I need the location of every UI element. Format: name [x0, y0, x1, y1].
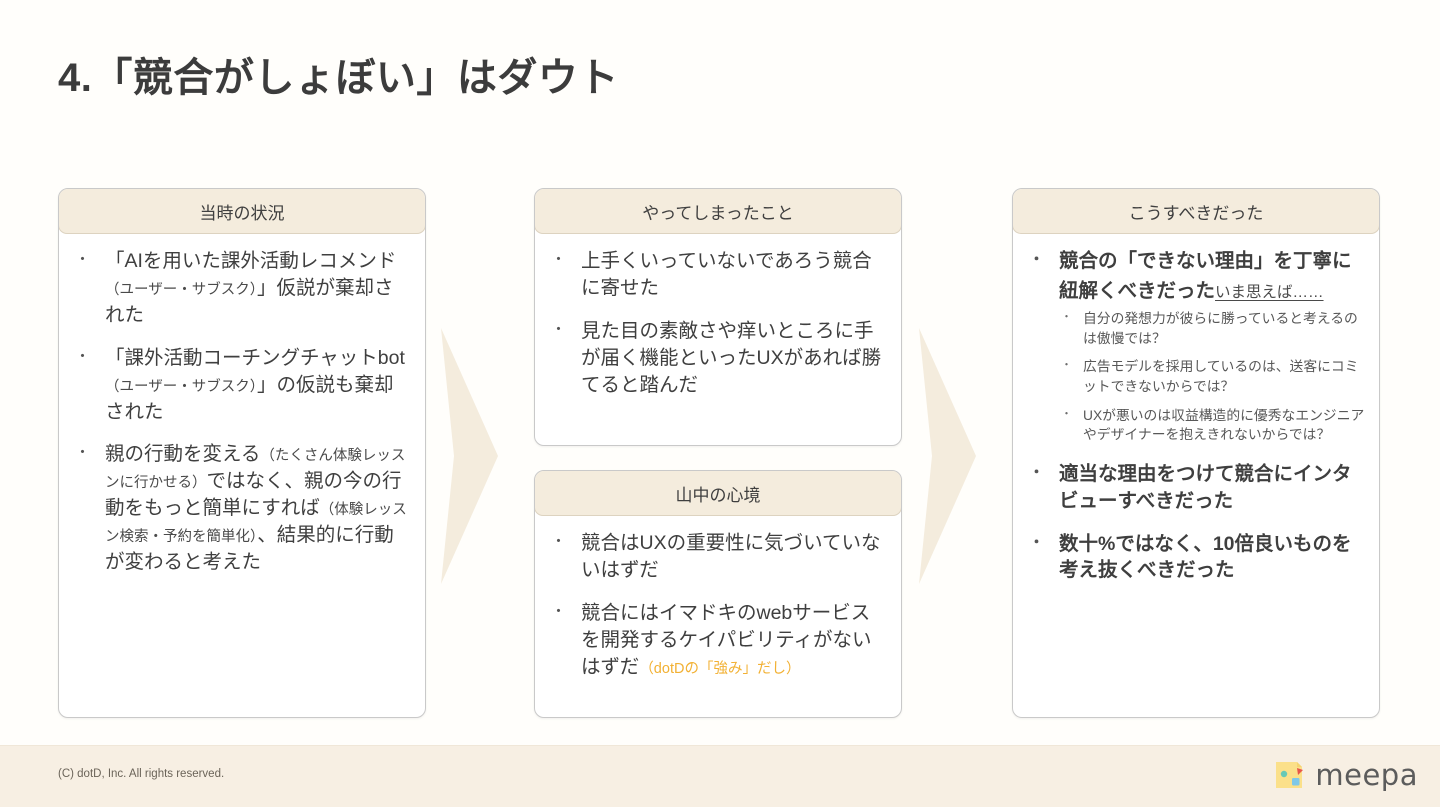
arrow-right-icon — [440, 328, 502, 584]
column-should: こうすべきだった 競合の「できない理由」を丁寧に紐解くべきだったいま思えば……自… — [1012, 188, 1380, 718]
panel-body-did: 上手くいっていないであろう競合に寄せた見た目の素敵さや痒いところに手が届く機能と… — [535, 234, 901, 445]
column-did: やってしまったこと 上手くいっていないであろう競合に寄せた見た目の素敵さや痒いと… — [534, 188, 902, 718]
panel-did: やってしまったこと 上手くいっていないであろう競合に寄せた見た目の素敵さや痒いと… — [534, 188, 902, 446]
panel-header-did: やってしまったこと — [534, 188, 902, 234]
list-item: 「AIを用いた課外活動レコメンド（ユーザー・サブスク）」仮説が棄却された — [69, 248, 411, 329]
sub-list-item: 自分の発想力が彼らに勝っていると考えるのは傲慢では？ — [1059, 309, 1365, 348]
sub-list-item: UXが悪いのは収益構造的に優秀なエンジニアやデザイナーを抱えきれないからでは？ — [1059, 406, 1365, 445]
column-situation: 当時の状況 「AIを用いた課外活動レコメンド（ユーザー・サブスク）」仮説が棄却さ… — [58, 188, 426, 718]
panel-body-situation: 「AIを用いた課外活動レコメンド（ユーザー・サブスク）」仮説が棄却された「課外活… — [59, 234, 425, 717]
panel-situation: 当時の状況 「AIを用いた課外活動レコメンド（ユーザー・サブスク）」仮説が棄却さ… — [58, 188, 426, 718]
list-item: 適当な理由をつけて競合にインタビューすべきだった — [1023, 461, 1365, 515]
brand-name: meepa — [1315, 758, 1418, 792]
list-item: 見た目の素敵さや痒いところに手が届く機能といったUXがあれば勝てると踏んだ — [545, 318, 887, 399]
page-title: 4.「競合がしょぼい」はダウト — [58, 45, 619, 103]
list-item: 上手くいっていないであろう競合に寄せた — [545, 248, 887, 302]
sub-list-label: いま思えば…… — [1215, 282, 1324, 303]
arrow-right-icon — [918, 328, 980, 584]
list-item-text: 数十%ではなく、10倍良いものを考え抜くべきだった — [1059, 533, 1352, 582]
panel-header-mind: 山中の心境 — [534, 470, 902, 516]
list-item-text: 見た目の素敵さや痒いところに手が届く機能といったUXがあれば勝てると踏んだ — [581, 320, 881, 396]
list-item-annotation: （ユーザー・サブスク） — [105, 379, 257, 395]
list-item: 競合の「できない理由」を丁寧に紐解くべきだったいま思えば……自分の発想力が彼らに… — [1023, 248, 1365, 445]
list-item: 「課外活動コーチングチャットbot（ユーザー・サブスク）」の仮説も棄却された — [69, 345, 411, 426]
list-item-text: 適当な理由をつけて競合にインタビューすべきだった — [1059, 463, 1352, 512]
bullet-list-should: 競合の「できない理由」を丁寧に紐解くべきだったいま思えば……自分の発想力が彼らに… — [1023, 248, 1365, 584]
list-item: 親の行動を変える（たくさん体験レッスンに行かせる）ではなく、親の今の行動をもっと… — [69, 441, 411, 576]
list-item-text: 上手くいっていないであろう競合に寄せた — [581, 250, 872, 299]
panel-body-mind: 競合はUXの重要性に気づいていないはずだ競合にはイマドキのwebサービスを開発す… — [535, 516, 901, 717]
slide-canvas: 4.「競合がしょぼい」はダウト 当時の状況 「AIを用いた課外活動レコメンド（ユ… — [0, 0, 1440, 807]
sub-bullet-list: 自分の発想力が彼らに勝っていると考えるのは傲慢では？広告モデルを採用しているのは… — [1059, 309, 1365, 444]
panel-body-should: 競合の「できない理由」を丁寧に紐解くべきだったいま思えば……自分の発想力が彼らに… — [1013, 234, 1379, 717]
bullet-list-mind: 競合はUXの重要性に気づいていないはずだ競合にはイマドキのwebサービスを開発す… — [545, 530, 887, 681]
panel-header-situation: 当時の状況 — [58, 188, 426, 234]
copyright-text: (C) dotD, Inc. All rights reserved. — [58, 768, 224, 780]
list-item: 競合はUXの重要性に気づいていないはずだ — [545, 530, 887, 584]
panel-mind: 山中の心境 競合はUXの重要性に気づいていないはずだ競合にはイマドキのwebサー… — [534, 470, 902, 718]
list-item-text: 親の行動を変える — [105, 443, 260, 465]
panel-should: こうすべきだった 競合の「できない理由」を丁寧に紐解くべきだったいま思えば……自… — [1012, 188, 1380, 718]
slide-footer: (C) dotD, Inc. All rights reserved. meep… — [0, 745, 1440, 807]
sub-list-item: 広告モデルを採用しているのは、送客にコミットできないからでは？ — [1059, 357, 1365, 396]
list-item-text: 「AIを用いた課外活動レコメンド — [105, 250, 396, 272]
panel-header-should: こうすべきだった — [1012, 188, 1380, 234]
bullet-list-did: 上手くいっていないであろう競合に寄せた見た目の素敵さや痒いところに手が届く機能と… — [545, 248, 887, 399]
list-item-text: 「課外活動コーチングチャットbot — [105, 347, 405, 369]
list-item-annotation: （dotDの「強み」だし） — [639, 661, 800, 677]
meepa-card-icon — [1272, 758, 1306, 792]
list-item-text: 競合はUXの重要性に気づいていないはずだ — [581, 532, 881, 581]
list-item-annotation: （ユーザー・サブスク） — [105, 282, 257, 298]
bullet-list-situation: 「AIを用いた課外活動レコメンド（ユーザー・サブスク）」仮説が棄却された「課外活… — [69, 248, 411, 576]
list-item: 数十%ではなく、10倍良いものを考え抜くべきだった — [1023, 531, 1365, 585]
brand-logo: meepa — [1272, 758, 1418, 792]
list-item: 競合にはイマドキのwebサービスを開発するケイパビリティがないはずだ（dotDの… — [545, 600, 887, 681]
